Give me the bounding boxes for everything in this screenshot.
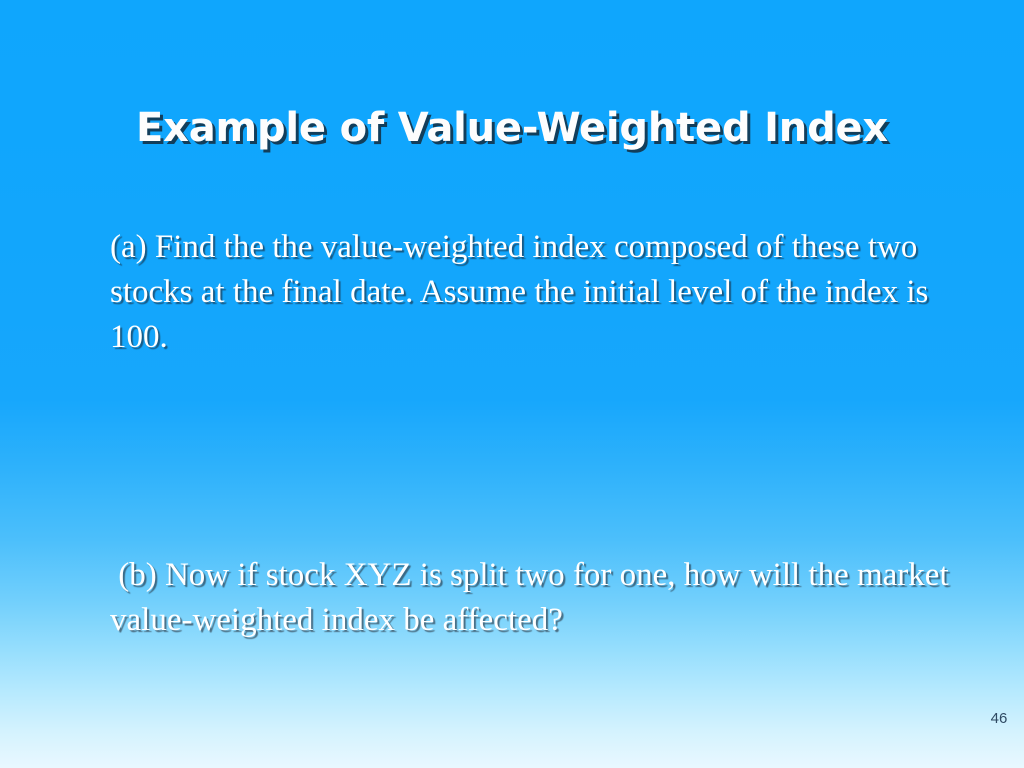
slide-title: Example of Value-Weighted Index [0,104,1024,152]
slide-canvas: Example of Value-Weighted Index (a) Find… [0,0,1024,768]
body-paragraph-a: (a) Find the the value-weighted index co… [110,225,970,360]
body-paragraph-b: (b) Now if stock XYZ is split two for on… [110,553,980,643]
page-number: 46 [982,710,1016,728]
